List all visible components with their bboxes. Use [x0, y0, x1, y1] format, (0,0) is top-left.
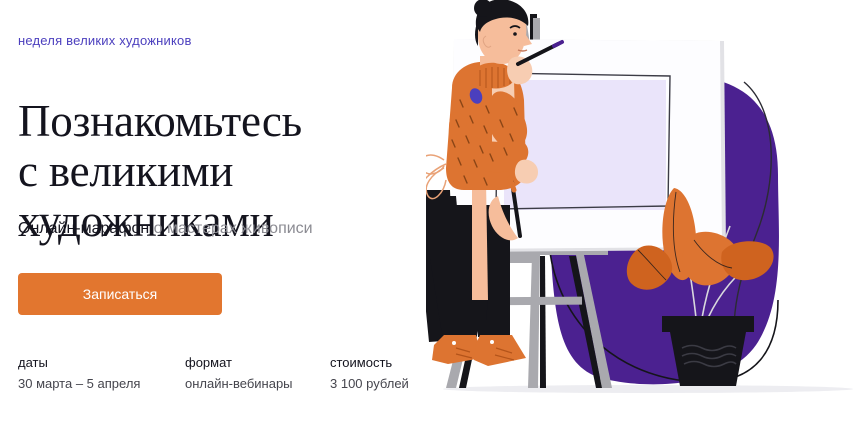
pot-body [670, 332, 746, 386]
headline-line-1: Познакомьтесь [18, 96, 438, 146]
canvas-inner-fill [504, 80, 666, 210]
shoes [432, 335, 526, 366]
hero-subtitle: Онлайн-марафон о мастерах живописи [18, 218, 313, 240]
hero-content: неделя великих художников Познакомьтесь … [18, 0, 448, 441]
hero-illustration [426, 0, 856, 441]
fact-dates-label: даты [18, 354, 140, 372]
hero-facts: даты 30 марта – 5 апреля формат онлайн-в… [18, 354, 438, 400]
signup-button[interactable]: Записаться [18, 273, 222, 315]
fact-dates: даты 30 марта – 5 апреля [18, 354, 140, 393]
fact-price-label: стоимость [330, 354, 409, 372]
hero-kicker: неделя великих художников [18, 33, 192, 48]
fact-format-label: формат [185, 354, 293, 372]
pot-rim [662, 316, 754, 332]
fact-price: стоимость 3 100 рублей [330, 354, 409, 393]
eye [513, 32, 517, 36]
leg-skin [472, 180, 488, 300]
fact-format-value: онлайн-вебинары [185, 374, 293, 393]
artist-illustration-svg [426, 0, 856, 441]
headline-line-2: с великими [18, 146, 438, 196]
ground-shadow [443, 385, 853, 393]
fact-format: формат онлайн-вебинары [185, 354, 293, 393]
fact-price-value: 3 100 рублей [330, 374, 409, 393]
hero-banner: неделя великих художников Познакомьтесь … [0, 0, 856, 441]
subtitle-strong: Онлайн-марафон [18, 220, 149, 237]
fact-dates-value: 30 марта – 5 апреля [18, 374, 140, 393]
subtitle-muted: о мастерах живописи [154, 220, 313, 237]
